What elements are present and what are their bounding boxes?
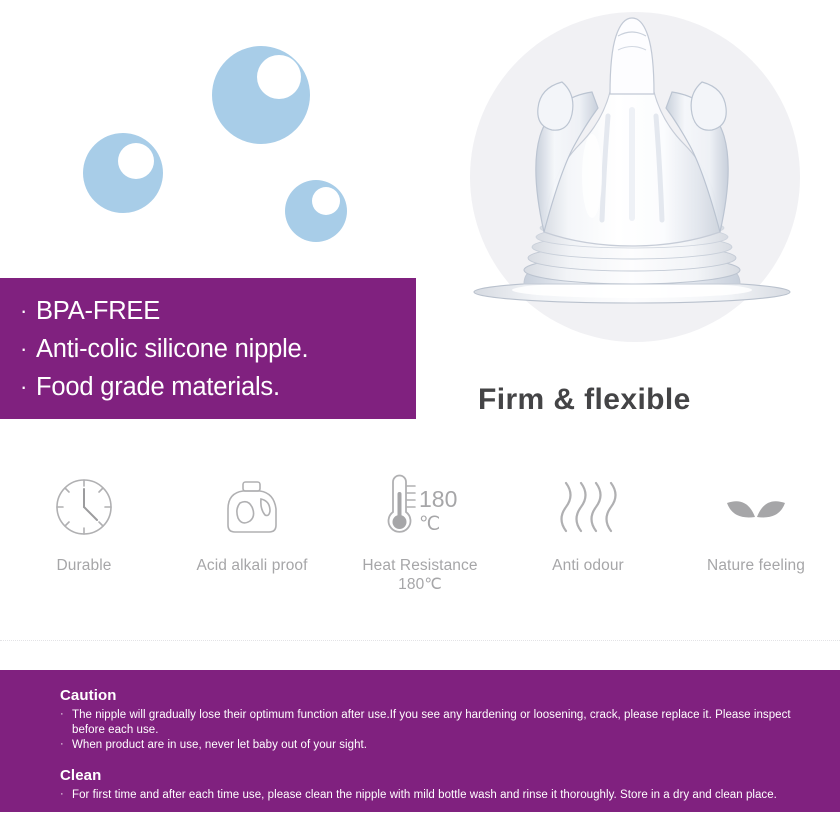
caution-item-text: The nipple will gradually lose their opt… xyxy=(72,709,791,736)
product-image-stage xyxy=(470,12,800,342)
caution-item: · When product are in use, never let bab… xyxy=(60,738,822,753)
claim-label: BPA-FREE xyxy=(36,297,160,325)
feature-label: Heat Resistance 180℃ xyxy=(362,556,477,594)
bullet-dot-icon: · xyxy=(60,737,64,752)
odour-waves-icon xyxy=(552,470,624,544)
detergent-bottle-icon xyxy=(220,470,284,544)
bullet-dot-icon: · xyxy=(20,330,36,367)
clean-item-text: For first time and after each time use, … xyxy=(72,789,777,801)
feature-nature-feeling: Nature feeling xyxy=(672,470,840,620)
claims-banner: ·BPA-FREE ·Anti-colic silicone nipple. ·… xyxy=(0,278,416,419)
bullet-dot-icon: · xyxy=(20,368,36,405)
feature-label: Acid alkali proof xyxy=(196,556,307,575)
bubble-highlight-icon xyxy=(118,143,154,179)
thermometer-badge-value: 180 xyxy=(419,486,457,512)
thermometer-icon: 180 ℃ xyxy=(374,470,466,544)
claim-label: Food grade materials. xyxy=(36,373,280,401)
clean-heading: Clean xyxy=(60,767,822,784)
product-caption: Firm & flexible xyxy=(478,383,691,417)
feature-acid-alkali-proof: Acid alkali proof xyxy=(168,470,336,620)
feature-anti-odour: Anti odour xyxy=(504,470,672,620)
bubble-medium-decoration xyxy=(83,133,163,213)
bubble-highlight-icon xyxy=(312,187,340,215)
bullet-dot-icon: · xyxy=(60,707,64,722)
feature-durable: Durable xyxy=(0,470,168,620)
feature-label: Anti odour xyxy=(552,556,624,575)
claim-item: ·Anti-colic silicone nipple. xyxy=(20,330,416,368)
bullet-dot-icon: · xyxy=(20,292,36,329)
claim-label: Anti-colic silicone nipple. xyxy=(36,335,308,363)
claim-item: ·Food grade materials. xyxy=(20,368,416,406)
section-divider xyxy=(0,640,840,641)
thermometer-badge-unit: ℃ xyxy=(419,514,440,535)
silicone-nipple-photo xyxy=(432,6,832,346)
clean-item: · For first time and after each time use… xyxy=(60,788,822,803)
caution-item: · The nipple will gradually lose their o… xyxy=(60,708,822,738)
bubble-highlight-icon xyxy=(257,55,301,99)
hero-section: ·BPA-FREE ·Anti-colic silicone nipple. ·… xyxy=(0,0,840,440)
claim-item: ·BPA-FREE xyxy=(20,292,416,330)
clock-icon xyxy=(52,470,116,544)
bubble-large-decoration xyxy=(212,46,310,144)
feature-icon-row: Durable Acid alkali proof xyxy=(0,470,840,620)
feature-label: Durable xyxy=(57,556,112,575)
bullet-dot-icon: · xyxy=(60,787,64,802)
care-instructions-block: Caution · The nipple will gradually lose… xyxy=(0,670,840,812)
feature-heat-resistance: 180 ℃ Heat Resistance 180℃ xyxy=(336,470,504,620)
leaves-icon xyxy=(720,470,792,544)
bubble-small-decoration xyxy=(285,180,347,242)
caution-heading: Caution xyxy=(60,687,822,704)
feature-label: Nature feeling xyxy=(707,556,805,575)
caution-item-text: When product are in use, never let baby … xyxy=(72,739,367,751)
